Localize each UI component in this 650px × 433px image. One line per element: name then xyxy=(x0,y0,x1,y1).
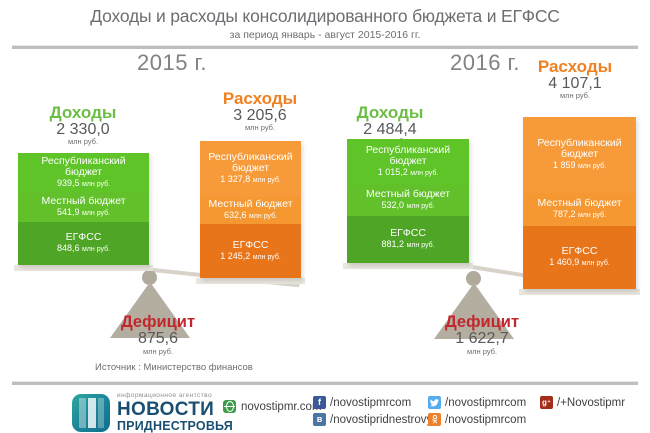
page-title: Доходы и расходы консолидированного бюдж… xyxy=(0,6,650,27)
googleplus-icon: g⁺ xyxy=(540,396,553,409)
segment-name-line2: бюджет xyxy=(232,163,269,174)
deficit-unit: млн руб. xyxy=(382,348,582,356)
page-subtitle: за период январь - август 2015-2016 гг. xyxy=(0,29,650,41)
divider-bottom xyxy=(12,381,638,385)
social-group-2: /novostipmrcom /novostipmrcom xyxy=(428,394,526,428)
bar-segment-republican[interactable]: Республиканский бюджет 1 859 млн руб. xyxy=(523,117,636,193)
bar-segment-egfss[interactable]: ЕГФСС 848,6 млн руб. xyxy=(18,222,149,265)
segment-unit: млн руб. xyxy=(406,203,434,210)
stacked-bar-expense-2016[interactable]: Республиканский бюджет 1 859 млн руб. Ме… xyxy=(523,117,636,289)
deficit-value: 875,6 xyxy=(58,331,258,348)
segment-unit: млн руб. xyxy=(578,212,606,219)
social-group-3: g⁺ /+Novostipmr xyxy=(540,394,625,411)
segment-name-line1: Местный бюджет xyxy=(42,196,126,207)
deficit-value: 1 622,7 xyxy=(382,331,582,348)
social-link-odnoklassniki[interactable]: /novostipmrcom xyxy=(428,411,526,428)
segment-value: 541,9 xyxy=(57,207,80,217)
bar-segment-egfss[interactable]: ЕГФСС 881,2 млн руб. xyxy=(347,216,469,263)
twitter-icon xyxy=(428,396,441,409)
social-handle: /+Novostipmr xyxy=(557,397,625,409)
segment-name-line2: бюджет xyxy=(389,156,426,167)
caption-unit: млн руб. xyxy=(0,138,168,146)
logo-line2: ПРИДНЕСТРОВЬЯ xyxy=(117,419,233,433)
social-handle: /novostipmrcom xyxy=(330,397,411,409)
bar-segment-egfss[interactable]: ЕГФСС 1 460,9 млн руб. xyxy=(523,226,636,289)
website-link[interactable]: novostipmr.com xyxy=(223,400,322,413)
segment-value: 881,2 xyxy=(381,239,404,249)
footer: информационное агентство НОВОСТИ ПРИДНЕС… xyxy=(0,388,650,433)
social-handle: /novostipridnestrovya xyxy=(330,414,439,426)
segment-name-line2: бюджет xyxy=(65,167,102,178)
social-handle: /novostipmrcom xyxy=(445,414,526,426)
bar-segment-local[interactable]: Местный бюджет 541,9 млн руб. xyxy=(18,192,149,222)
deficit-label: Дефицит xyxy=(58,314,258,331)
logo-wordmark: информационное агентство НОВОСТИ ПРИДНЕС… xyxy=(117,392,233,433)
social-link-vk[interactable]: в /novostipridnestrovya xyxy=(313,411,439,428)
segment-name-line1: Республиканский xyxy=(41,156,125,167)
segment-value: 632,6 xyxy=(224,210,247,220)
segment-unit: млн руб. xyxy=(582,260,610,267)
caption-title: Доходы xyxy=(0,104,168,121)
segment-unit: млн руб. xyxy=(253,254,281,261)
stacked-bar-income-2016[interactable]: Республиканский бюджет 1 015,2 млн руб. … xyxy=(347,139,469,263)
segment-value: 1 859 xyxy=(553,160,576,170)
deficit-2016: Дефицит 1 622,7 млн руб. xyxy=(382,314,582,356)
website-url: novostipmr.com xyxy=(241,401,322,413)
bar-segment-republican[interactable]: Республиканский бюджет 939,5 млн руб. xyxy=(18,153,149,192)
bar-segment-local[interactable]: Местный бюджет 787,2 млн руб. xyxy=(523,193,636,226)
segment-unit: млн руб. xyxy=(82,210,110,217)
segment-value: 848,6 xyxy=(57,243,80,253)
segment-name-line2: бюджет xyxy=(561,149,598,160)
segment-value: 939,5 xyxy=(57,178,80,188)
segment-value: 1 245,2 xyxy=(220,251,250,261)
segment-name-line1: ЕГФСС xyxy=(562,246,598,257)
novosti-logo-icon xyxy=(72,394,110,432)
social-handle: /novostipmrcom xyxy=(445,397,526,409)
segment-value: 1 015,2 xyxy=(378,167,408,177)
segment-unit: млн руб. xyxy=(249,213,277,220)
segment-unit: млн руб. xyxy=(253,177,281,184)
caption-unit: млн руб. xyxy=(490,92,650,100)
source-note: Источник : Министерство финансов xyxy=(95,362,253,373)
segment-unit: млн руб. xyxy=(82,181,110,188)
plate-base-right xyxy=(196,278,305,284)
segment-name-line1: ЕГФСС xyxy=(66,232,102,243)
logo-line1: НОВОСТИ xyxy=(117,400,233,419)
plate-base-left xyxy=(14,265,153,271)
odnoklassniki-icon xyxy=(428,413,441,426)
caption-expense-2016: Расходы 4 107,1 млн руб. xyxy=(490,58,650,99)
infographic-canvas: Доходы и расходы консолидированного бюдж… xyxy=(0,0,650,433)
plate-base-right xyxy=(519,289,640,295)
social-link-twitter[interactable]: /novostipmrcom xyxy=(428,394,526,411)
segment-name-line1: Местный бюджет xyxy=(538,198,622,209)
deficit-unit: млн руб. xyxy=(58,348,258,356)
caption-income-2015: Доходы 2 330,0 млн руб. xyxy=(0,104,168,145)
segment-name-line1: ЕГФСС xyxy=(233,240,269,251)
vk-icon: в xyxy=(313,413,326,426)
segment-value: 1 327,8 xyxy=(220,174,250,184)
deficit-label: Дефицит xyxy=(382,314,582,331)
divider-top xyxy=(12,45,638,49)
segment-name-line1: Местный бюджет xyxy=(209,199,293,210)
bar-segment-republican[interactable]: Республиканский бюджет 1 015,2 млн руб. xyxy=(347,139,469,185)
deficit-2015: Дефицит 875,6 млн руб. xyxy=(58,314,258,356)
social-link-facebook[interactable]: f /novostipmrcom xyxy=(313,394,439,411)
bar-segment-egfss[interactable]: ЕГФСС 1 245,2 млн руб. xyxy=(200,224,301,278)
caption-title: Расходы xyxy=(490,58,650,75)
segment-value: 532,0 xyxy=(381,200,404,210)
social-group-1: f /novostipmrcom в /novostipridnestrovya xyxy=(313,394,439,428)
segment-value: 787,2 xyxy=(553,209,576,219)
segment-unit: млн руб. xyxy=(406,242,434,249)
segment-name-line1: ЕГФСС xyxy=(390,228,426,239)
stacked-bar-expense-2015[interactable]: Республиканский бюджет 1 327,8 млн руб. … xyxy=(200,141,301,278)
bar-segment-local[interactable]: Местный бюджет 632,6 млн руб. xyxy=(200,197,301,224)
year-label-2015: 2015 г. xyxy=(72,50,272,76)
social-link-googleplus[interactable]: g⁺ /+Novostipmr xyxy=(540,394,625,411)
bar-segment-republican[interactable]: Республиканский бюджет 1 327,8 млн руб. xyxy=(200,141,301,197)
segment-unit: млн руб. xyxy=(578,163,606,170)
globe-icon xyxy=(223,400,236,413)
segment-value: 1 460,9 xyxy=(549,257,579,267)
segment-unit: млн руб. xyxy=(410,170,438,177)
segment-name-line1: Местный бюджет xyxy=(366,189,450,200)
facebook-icon: f xyxy=(313,396,326,409)
stacked-bar-income-2015[interactable]: Республиканский бюджет 939,5 млн руб. Ме… xyxy=(18,153,149,265)
segment-unit: млн руб. xyxy=(82,246,110,253)
bar-segment-local[interactable]: Местный бюджет 532,0 млн руб. xyxy=(347,185,469,216)
caption-title: Доходы xyxy=(305,104,475,121)
plate-base-left xyxy=(343,263,473,269)
